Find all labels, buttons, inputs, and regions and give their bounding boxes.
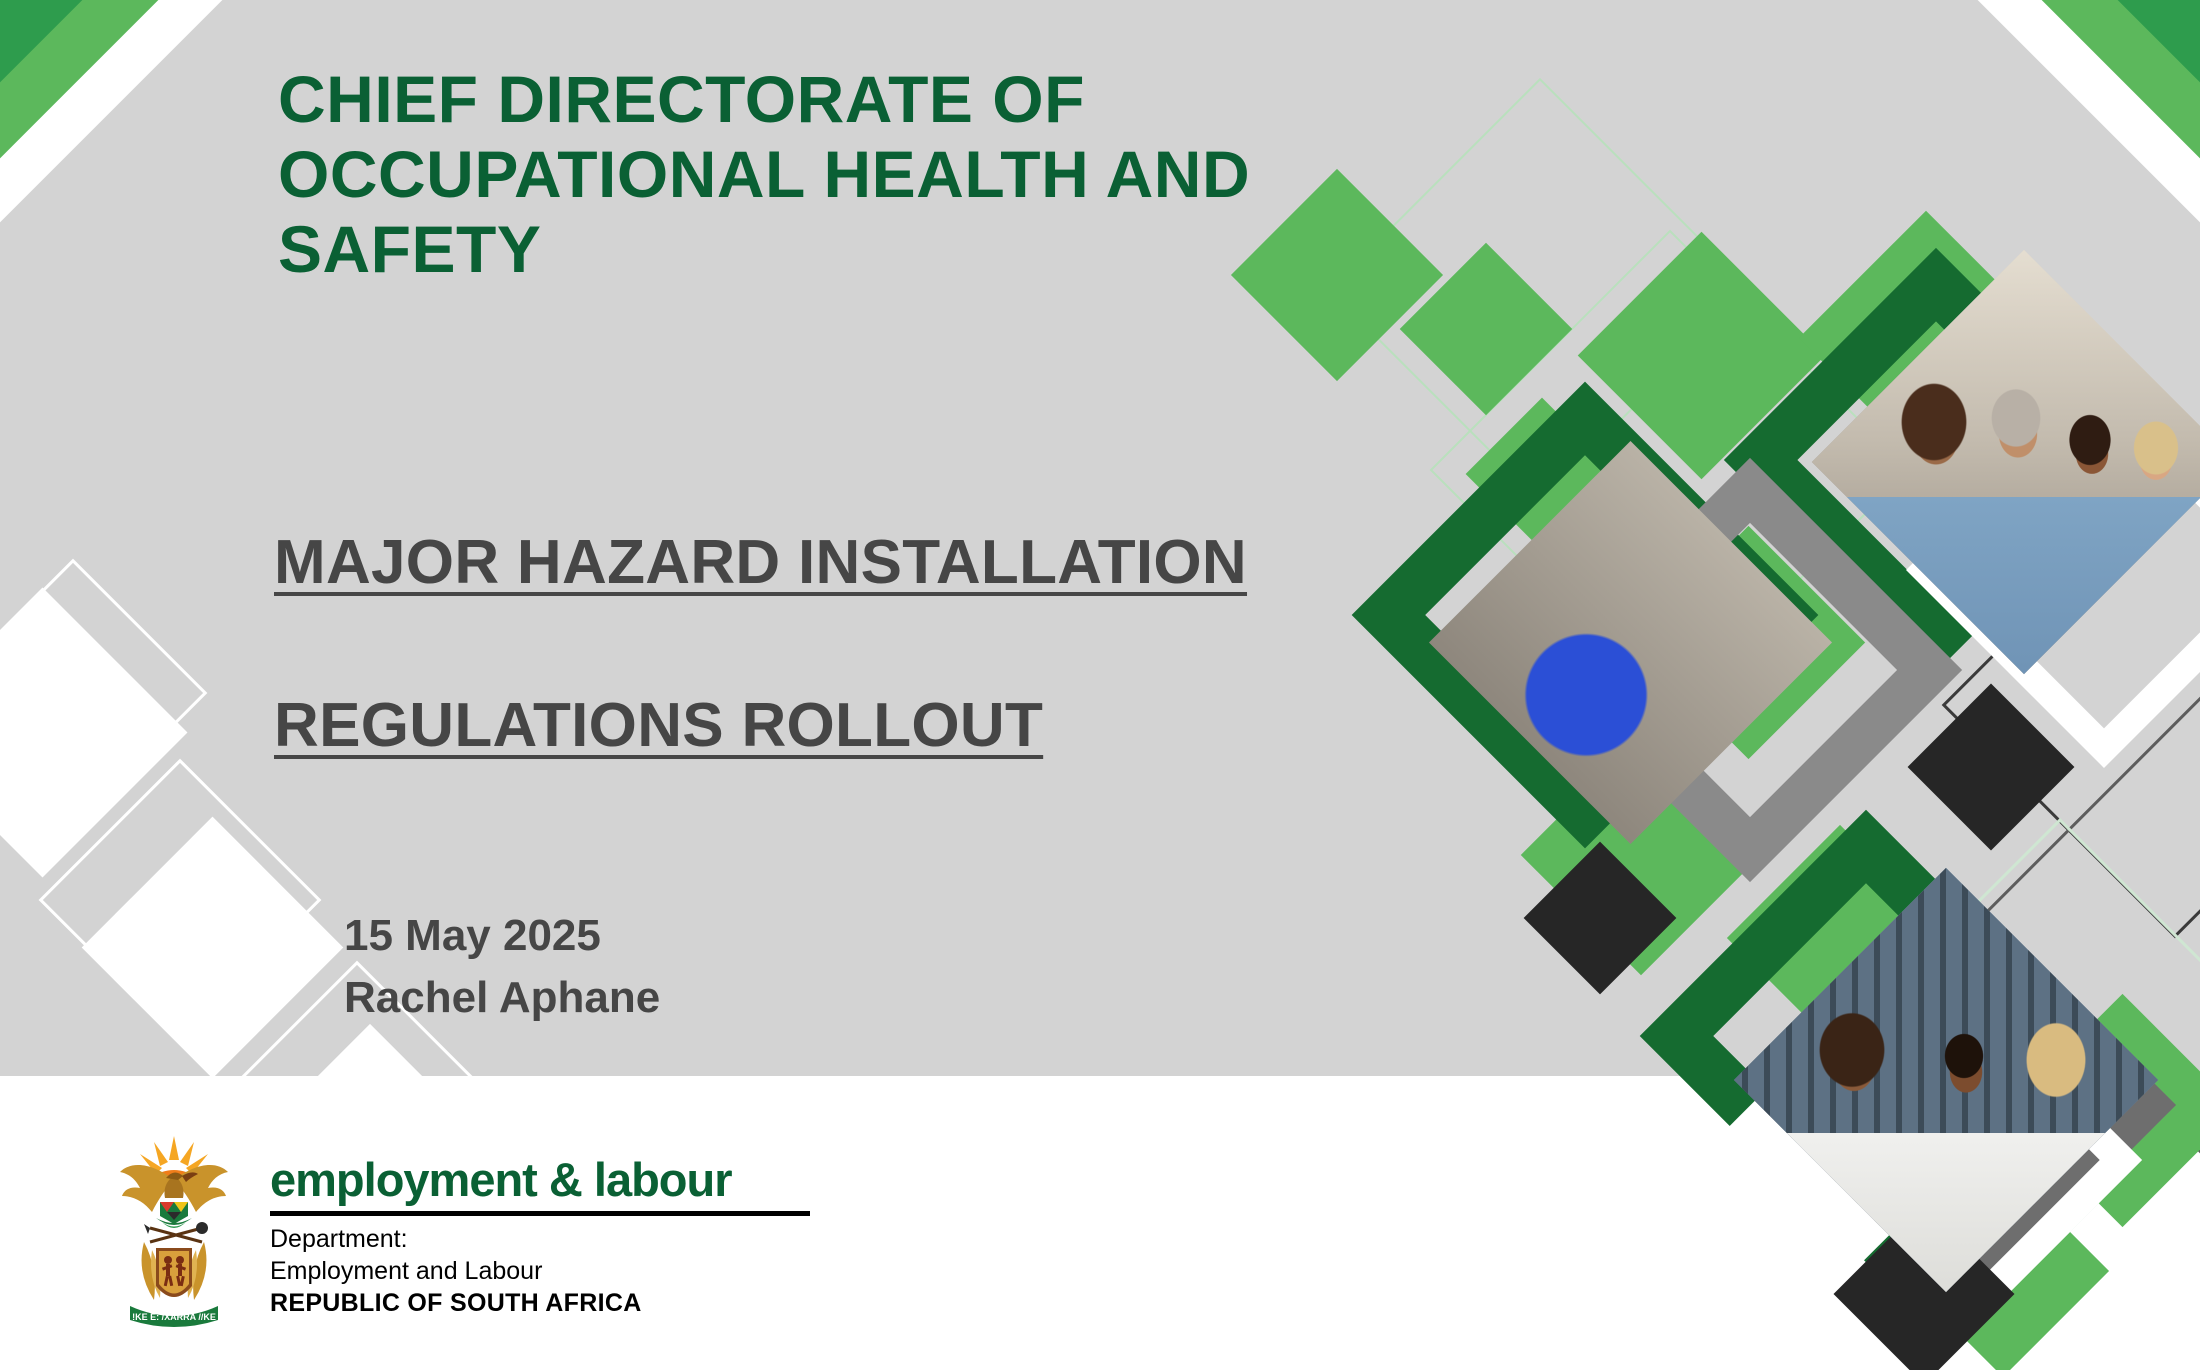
department-name: Employment and Labour [270, 1255, 810, 1287]
page-subtitle: MAJOR HAZARD INSTALLATION REGULATIONS RO… [274, 440, 1394, 767]
subtitle-line-2: REGULATIONS ROLLOUT [274, 691, 1043, 760]
page-title: CHIEF DIRECTORATE OF OCCUPATIONAL HEALTH… [278, 62, 1458, 288]
coat-of-arms-motto: !KE E: /XARRA //KE [132, 1312, 216, 1322]
country-label: REPUBLIC OF SOUTH AFRICA [270, 1287, 810, 1319]
presentation-meta: 15 May 2025 Rachel Aphane [344, 905, 660, 1030]
department-label: Department: [270, 1223, 810, 1255]
employment-and-labour-wordmark: employment & labour [270, 1156, 810, 1203]
south-african-coat-of-arms-icon: !KE E: /XARRA //KE [110, 1130, 238, 1340]
subtitle-line-1: MAJOR HAZARD INSTALLATION [274, 528, 1247, 597]
department-details: Department: Employment and Labour REPUBL… [270, 1223, 810, 1319]
wordmark-divider [270, 1211, 810, 1216]
presentation-slide: CHIEF DIRECTORATE OF OCCUPATIONAL HEALTH… [0, 0, 2200, 1370]
footer-branding: !KE E: /XARRA //KE employment & labour D… [110, 1130, 810, 1340]
department-wordmark: employment & labour Department: Employme… [270, 1130, 810, 1319]
